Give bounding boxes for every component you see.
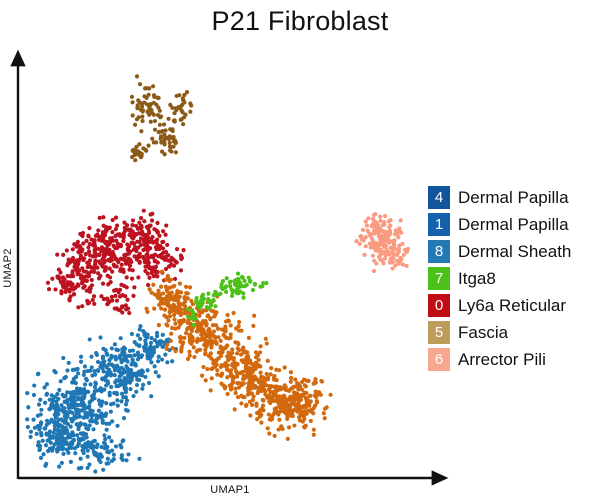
legend-swatch: 0 [428,294,450,317]
legend-label: Arrector Pili [458,351,546,368]
cluster-arrector-pili [354,212,410,273]
legend-item-fascia-5[interactable]: 5Fascia [428,319,596,346]
legend: 4Dermal Papilla1Dermal Papilla8Dermal Sh… [428,184,596,373]
legend-label: Itga8 [458,270,496,287]
legend-swatch: 6 [428,348,450,371]
legend-item-itga8-7[interactable]: 7Itga8 [428,265,596,292]
legend-swatch: 1 [428,213,450,236]
legend-item-ly6a-reticular-0[interactable]: 0Ly6a Reticular [428,292,596,319]
legend-label: Dermal Papilla [458,216,569,233]
legend-label: Dermal Papilla [458,189,569,206]
legend-label: Fascia [458,324,508,341]
cluster-itga8 [186,271,269,327]
legend-swatch: 8 [428,240,450,263]
cluster-dermal-papilla [144,270,332,441]
legend-swatch: 7 [428,267,450,290]
legend-item-dermal-papilla-1[interactable]: 1Dermal Papilla [428,211,596,238]
legend-label: Dermal Sheath [458,243,571,260]
legend-item-dermal-sheath-8[interactable]: 8Dermal Sheath [428,238,596,265]
legend-item-arrector-pili-6[interactable]: 6Arrector Pili [428,346,596,373]
umap-plot-figure: P21 Fibroblast UMAP1 UMAP2 4Dermal Papil… [0,0,600,504]
legend-swatch: 5 [428,321,450,344]
legend-item-dermal-papilla-4[interactable]: 4Dermal Papilla [428,184,596,211]
legend-swatch: 4 [428,186,450,209]
cluster-fascia [130,74,193,162]
cluster-dermal-sheath [25,324,178,473]
legend-label: Ly6a Reticular [458,297,566,314]
